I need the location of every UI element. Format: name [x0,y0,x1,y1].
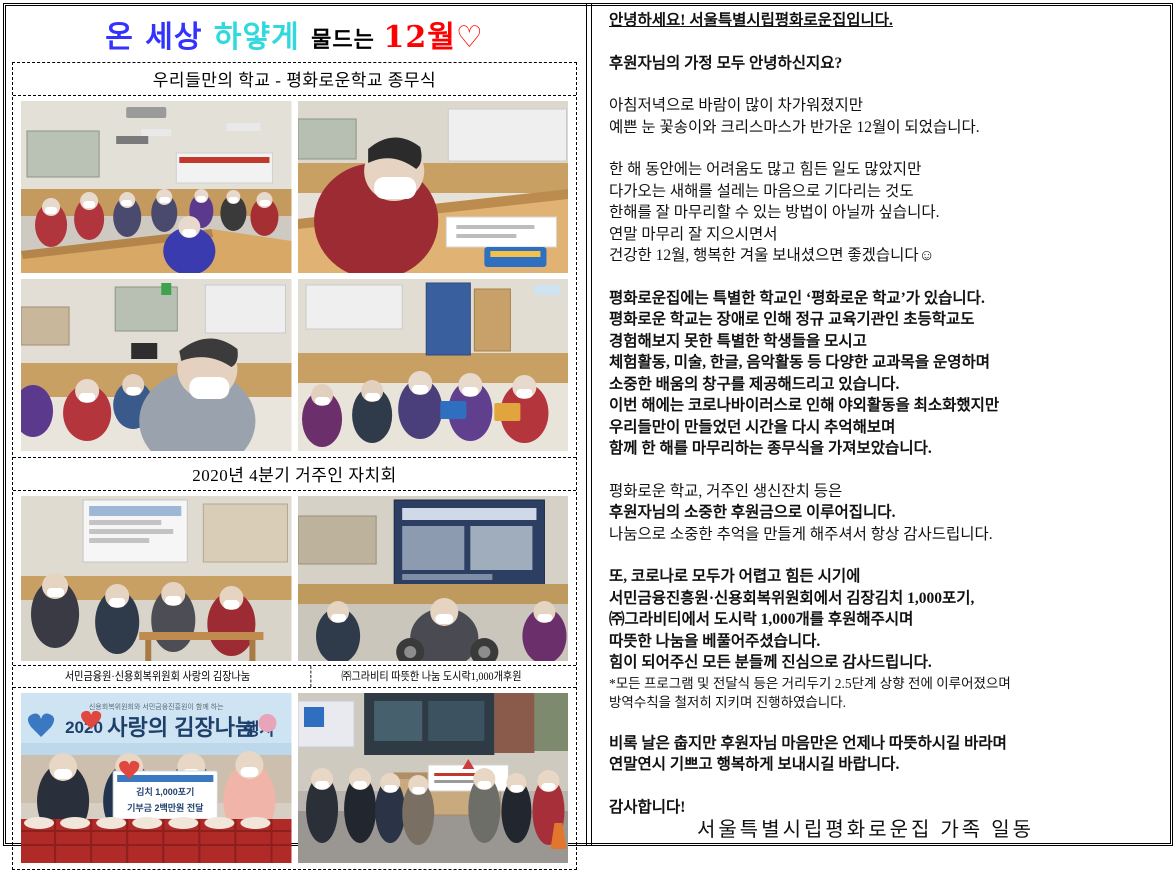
letter-p5-l1: 또, 코로나로 모두가 어렵고 힘든 시기에 [609,566,1168,588]
svg-text:신용회복위원회와 서민금융진흥원이 함께 하는: 신용회복위원회와 서민금융진흥원이 함께 하는 [89,702,224,711]
spacer-5 [609,460,1168,481]
letter-p3-l4: 체험활동, 미술, 한글, 음악활동 등 다양한 교과목을 운영하며 [609,352,1168,374]
letter-p1-l1: 아침저녁으로 바람이 많이 차가워졌지만 [609,95,1168,117]
letter-p4-l1: 평화로운 학교, 거주인 생신잔치 등은 [609,481,1168,503]
title-part-2: 하얗게 [214,20,311,55]
left-column: 온 세상 하얗게 물드는 12월♡ 우리들만의 학교 - 평화로운학교 종무식 [0,0,587,849]
letter-p4-l2: 후원자님의 소중한 후원금으로 이루어집니다. [609,502,1168,524]
letter-p3-l8: 함께 한 해를 마무리하는 종무식을 가져보았습니다. [609,438,1168,460]
photo-council-2 [298,496,569,661]
photo-row-donation: 신용회복위원회와 서민금융진흥원이 함께 하는 2020 사랑의 김장나눔 행사 [13,688,576,869]
caption-kimchi: 서민금융원·신용회복위원회 사랑의 김장나눔 [37,666,277,687]
spacer-6 [609,545,1168,566]
spacer-4 [609,267,1168,288]
photo-council-1 [21,496,292,661]
letter-footnote-l2: 방역수칙을 철저히 지키며 진행하였습니다. [609,693,1168,712]
svg-text:사랑의 김장나눔: 사랑의 김장나눔 [107,715,255,740]
letter-p3-l3: 경험해보지 못한 특별한 학생들을 모시고 [609,331,1168,353]
svg-text:김치 1,000포기: 김치 1,000포기 [136,786,194,797]
svg-text:기부금 2백만원 전달: 기부금 2백만원 전달 [127,802,204,813]
spacer-8 [609,776,1168,797]
letter-p2-l3: 한해를 잘 마무리할 수 있는 방법이 아닐까 싶습니다. [609,202,1168,224]
spacer-3 [609,138,1168,159]
photo-school-3 [21,279,292,451]
title-part-1: 온 세상 [105,20,214,55]
letter-body: 안녕하세요! 서울특별시립평화로운집입니다. 후원자님의 가정 모두 안녕하신지… [609,10,1168,842]
photo-donation-lunchbox [298,693,569,863]
letter-question: 후원자님의 가정 모두 안녕하신지요? [609,53,1168,75]
photo-row-school-top [13,96,576,279]
column-divider [586,4,592,845]
letter-p2-l5: 건강한 12월, 행복한 겨울 보내셨으면 좋겠습니다☺ [609,245,1168,267]
student-writing-photo [298,101,569,273]
letter-p5-l3: ㈜그라비티에서 도시락 1,000개를 후원해주시며 [609,609,1168,631]
letter-p5-l4: 따뜻한 나눔을 베풀어주셨습니다. [609,631,1168,653]
classroom-ceremony-photo [21,101,292,273]
letter-p3-l1: 평화로운집에는 특별한 학교인 ‘평화로운 학교’가 있습니다. [609,288,1168,310]
page-title: 온 세상 하얗게 물드는 12월♡ [12,8,577,62]
photo-donation-kimchi: 신용회복위원회와 서민금융진흥원이 함께 하는 2020 사랑의 김장나눔 행사 [21,693,292,863]
letter-p2-l2: 다가오는 새해를 설레는 마음으로 기다리는 것도 [609,181,1168,203]
letter-p3-l5: 소중한 배움의 창구를 제공해드리고 있습니다. [609,374,1168,396]
section-title-school: 우리들만의 학교 - 평화로운학교 종무식 [13,63,576,95]
letter-footnote-l1: *모든 프로그램 및 전달식 등은 거리두기 2.5단계 상향 전에 이루어졌으… [609,674,1168,693]
right-column: 안녕하세요! 서울특별시립평화로운집입니다. 후원자님의 가정 모두 안녕하신지… [587,0,1176,849]
section-title-council: 2020년 4분기 거주인 자치회 [13,458,576,490]
letter-p3-l2: 평화로운 학교는 장애로 인해 정규 교육기관인 초등학교도 [609,309,1168,331]
lunchbox-donation-photo [298,693,569,863]
photo-row-school-bottom [13,279,576,457]
spacer-1 [609,32,1168,53]
council-screen-photo [298,496,569,661]
letter-p3-l7: 우리들만이 만들었던 시간을 다시 추억해보며 [609,417,1168,439]
spacer-2 [609,74,1168,95]
donation-caption-row: 서민금융원·신용회복위원회 사랑의 김장나눔 ㈜그라비티 따뜻한 나눔 도시락1… [13,666,576,687]
letter-p2-l1: 한 해 동안에는 어려움도 많고 힘든 일도 많았지만 [609,159,1168,181]
caption-lunchbox: ㈜그라비티 따뜻한 나눔 도시락1,000개후원 [310,666,551,687]
letter-p3-l6: 이번 해에는 코로나바이러스로 인해 야외활동을 최소화했지만 [609,395,1168,417]
title-part-4: 12월♡ [384,20,484,55]
kimchi-donation-ceremony-photo: 신용회복위원회와 서민금융진흥원이 함께 하는 2020 사랑의 김장나눔 행사 [21,693,292,863]
letter-p6-l2: 연말연시 기쁘고 행복하게 보내시길 바랍니다. [609,754,1168,776]
photo-school-2 [298,101,569,273]
letter-p5-l5: 힘이 되어주신 모든 분들께 진심으로 감사드립니다. [609,652,1168,674]
letter-p5-l2: 서민금융진흥원·신용회복위원회에서 김장김치 1,000포기, [609,588,1168,610]
letter-greeting: 안녕하세요! 서울특별시립평화로운집입니다. [609,10,1168,32]
title-part-3: 물드는 [311,27,383,53]
letter-p4-l3: 나눔으로 소중한 추억을 만들게 해주셔서 항상 감사드립니다. [609,524,1168,546]
photo-row-council [13,491,576,665]
letter-p2-l4: 연말 마무리 잘 지으시면서 [609,224,1168,246]
photo-school-1 [21,101,292,273]
photo-board: 우리들만의 학교 - 평화로운학교 종무식 [12,62,577,870]
letter-signature: 서울특별시립평화로운집 가족 일동 [609,818,1168,842]
letter-p1-l2: 예쁜 눈 꽃송이와 크리스마스가 반가운 12월이 되었습니다. [609,117,1168,139]
council-presentation-photo [21,496,292,661]
letter-p6-l1: 비록 날은 춥지만 후원자님 마음만은 언제나 따뜻하시길 바라며 [609,733,1168,755]
letter-thanks: 감사합니다! [609,797,1168,819]
photo-school-4 [298,279,569,451]
spacer-7 [609,712,1168,733]
newsletter-page: 온 세상 하얗게 물드는 12월♡ 우리들만의 학교 - 평화로운학교 종무식 [0,0,1176,849]
class-activity-photo [21,279,292,451]
gift-handout-photo [298,279,569,451]
